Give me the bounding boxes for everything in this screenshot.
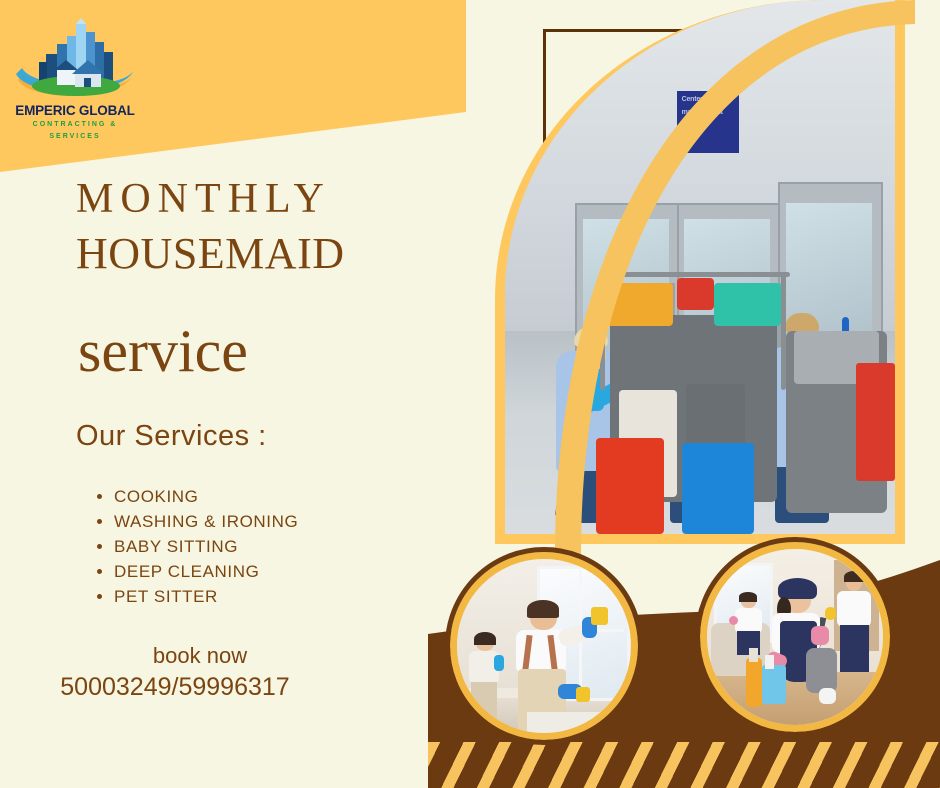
sign-text-line2: management xyxy=(677,104,739,117)
circle-photo-window-cleaning xyxy=(450,552,638,740)
poster-canvas: EMPERIC GLOBAL CONTRACTING & SERVICES MO… xyxy=(0,0,940,788)
services-heading: Our Services : xyxy=(76,420,267,453)
cleaning-cart xyxy=(587,267,813,534)
circle-photo-floor-cleaning xyxy=(700,542,890,732)
list-item: DEEP CLEANING xyxy=(114,559,298,584)
page-title: MONTHLY HOUSEMAID xyxy=(76,172,345,282)
brand-logo: EMPERIC GLOBAL CONTRACTING & SERVICES xyxy=(10,18,140,138)
phone-number[interactable]: 50003249/59996317 xyxy=(0,670,350,704)
brand-tagline-line1: CONTRACTING & xyxy=(10,120,140,130)
list-item: BABY SITTING xyxy=(114,534,298,559)
sign-text-line1: Center- xyxy=(677,91,739,104)
headline-script-word: service xyxy=(78,316,248,386)
brand-name: EMPERIC GLOBAL xyxy=(10,104,140,118)
center-management-sign: Center- management xyxy=(677,91,739,153)
diagonal-stripes-decoration xyxy=(428,742,940,788)
list-item: PET SITTER xyxy=(114,584,298,609)
headline-line-2: HOUSEMAID xyxy=(76,226,345,282)
book-now-label: book now xyxy=(0,640,400,672)
list-item: WASHING & IRONING xyxy=(114,509,298,534)
list-item: COOKING xyxy=(114,484,298,509)
city-skyline-house-logo-icon xyxy=(10,18,140,106)
brand-logo-text: EMPERIC GLOBAL CONTRACTING & SERVICES xyxy=(10,104,140,142)
brand-tagline-line2: SERVICES xyxy=(10,132,140,142)
services-list: COOKING WASHING & IRONING BABY SITTING D… xyxy=(88,484,298,609)
headline-line-1: MONTHLY xyxy=(76,172,345,226)
